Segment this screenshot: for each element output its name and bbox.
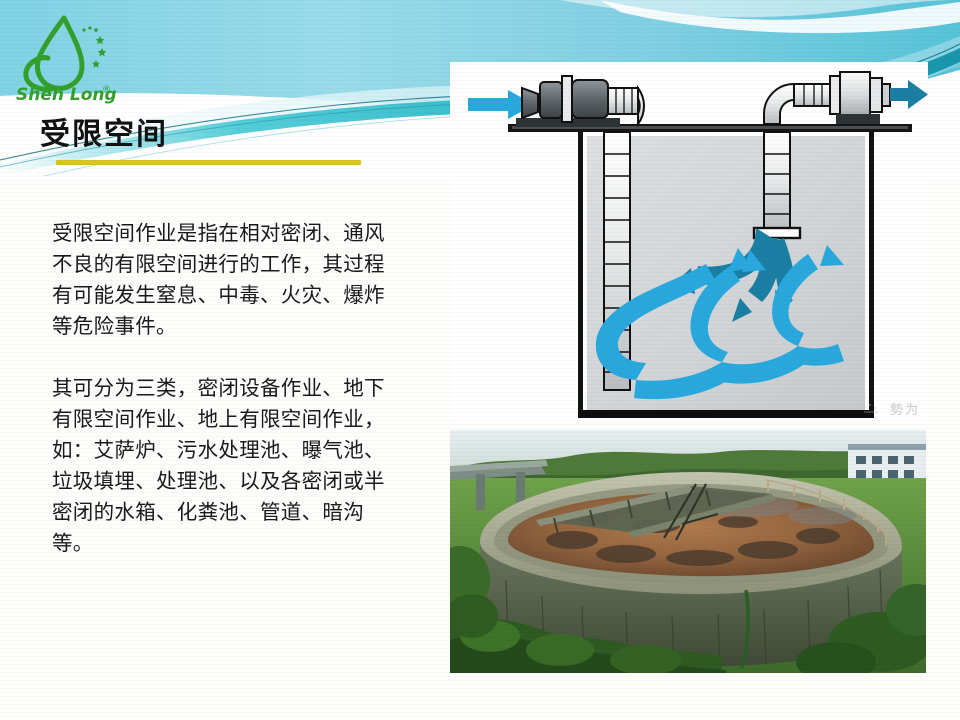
company-logo: Shen Long ® xyxy=(14,12,118,104)
ventilation-diagram: 勢为 xyxy=(450,62,928,422)
title-underline-rule xyxy=(56,160,361,165)
droplet-icon xyxy=(38,18,82,88)
diagram-watermark: 勢为 xyxy=(862,399,920,418)
body-paragraph-2: 其可分为三类，密闭设备作业、地下有限空间作业、地上有限空间作业，如：艾萨炉、污水… xyxy=(52,373,404,559)
body-paragraph-1: 受限空间作业是指在相对密闭、通风不良的有限空间进行的工作，其过程有可能发生窒息、… xyxy=(52,218,404,342)
photo-illustration xyxy=(450,430,926,673)
page-title: 受限空间 xyxy=(40,118,168,151)
blower-inlet-cone xyxy=(522,88,538,118)
exhaust-blower-base xyxy=(836,114,880,124)
logo-registered-mark: ® xyxy=(102,85,111,95)
tank-floor xyxy=(578,410,874,418)
body-text-block: 受限空间作业是指在相对密闭、通风不良的有限空间进行的工作，其过程有可能发生窒息、… xyxy=(52,218,404,559)
watermark-text: 勢为 xyxy=(890,399,920,418)
watermark-dots-icon xyxy=(862,403,884,415)
stars-icon xyxy=(82,26,106,67)
slide-root: Shen Long ® 受限空间 受限空间作业是指在相对密闭、通风不良的有限空间… xyxy=(0,0,960,720)
treatment-tank-photo xyxy=(450,430,926,673)
